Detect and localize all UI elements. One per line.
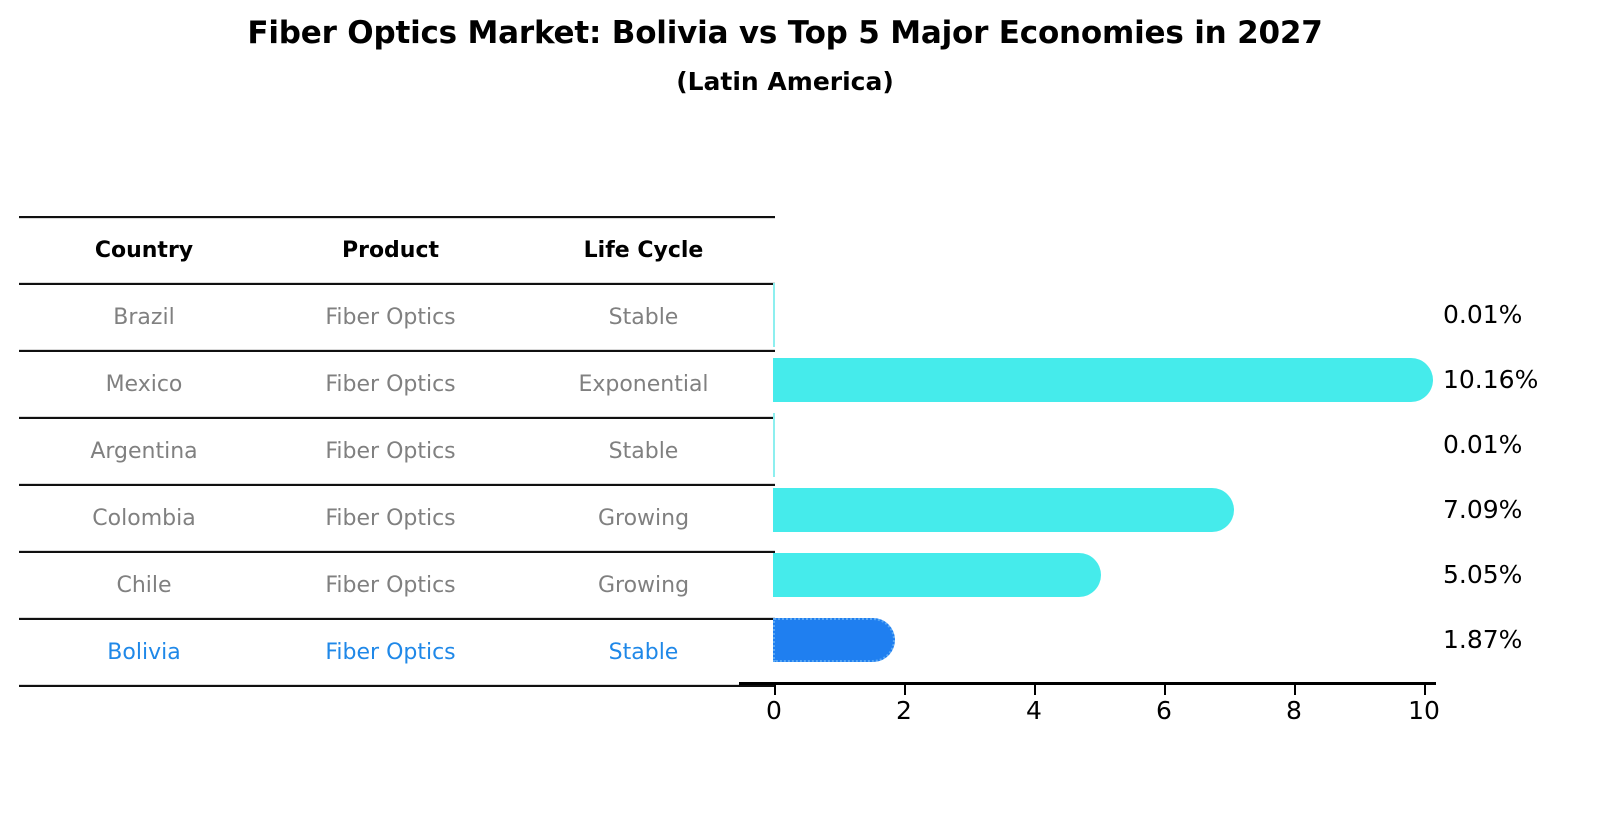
bar-value-label: 7.09% [1443,495,1522,524]
product-cell: Fiber Optics [269,552,512,619]
bar-row: 10.16% [773,347,1433,412]
country-cell: Bolivia [19,619,269,686]
bar[interactable] [773,413,775,477]
bar[interactable] [773,283,775,347]
page-title: Fiber Optics Market: Bolivia vs Top 5 Ma… [0,14,1570,53]
x-axis-tick [1424,685,1426,695]
column-header-product: Product [269,217,512,284]
page-subtitle: (Latin America) [0,67,1570,96]
product-cell: Fiber Optics [269,485,512,552]
life-cycle-cell: Stable [512,418,775,485]
x-axis-tick-label: 2 [896,696,912,725]
product-cell: Fiber Optics [269,284,512,351]
x-axis-tick-label: 10 [1408,696,1440,725]
x-axis-tick-label: 8 [1286,696,1302,725]
data-table-panel: Country Product Life Cycle BrazilFiber O… [19,216,775,687]
bar-value-label: 0.01% [1443,430,1522,459]
country-cell: Colombia [19,485,269,552]
table-row: BrazilFiber OpticsStable [19,284,775,351]
table-row: ChileFiber OpticsGrowing [19,552,775,619]
bar-value-label: 5.05% [1443,560,1522,589]
life-cycle-cell: Growing [512,485,775,552]
bar[interactable] [773,553,1101,597]
bar[interactable] [773,358,1433,402]
bar-highlighted[interactable] [773,618,895,662]
bar-value-label: 1.87% [1443,625,1522,654]
x-axis-tick [1164,685,1166,695]
x-axis-line [739,682,1436,685]
column-header-country: Country [19,217,269,284]
product-cell: Fiber Optics [269,418,512,485]
table-row: ColombiaFiber OpticsGrowing [19,485,775,552]
country-cell: Brazil [19,284,269,351]
x-axis-tick [1034,685,1036,695]
bar-row: 5.05% [773,542,1101,607]
table-row: ArgentinaFiber OpticsStable [19,418,775,485]
product-cell: Fiber Optics [269,351,512,418]
bar-row: 7.09% [773,477,1234,542]
x-axis-tick [904,685,906,695]
title-block: Fiber Optics Market: Bolivia vs Top 5 Ma… [0,14,1570,96]
x-axis-tick-label: 6 [1156,696,1172,725]
column-header-life-cycle: Life Cycle [512,217,775,284]
life-cycle-cell: Stable [512,619,775,686]
life-cycle-cell: Growing [512,552,775,619]
life-cycle-cell: Stable [512,284,775,351]
x-axis-tick-label: 0 [766,696,782,725]
x-axis-tick [1294,685,1296,695]
x-axis-tick-label: 4 [1026,696,1042,725]
product-cell: Fiber Optics [269,619,512,686]
country-cell: Mexico [19,351,269,418]
table-row: MexicoFiber OpticsExponential [19,351,775,418]
country-cell: Chile [19,552,269,619]
bar-value-label: 0.01% [1443,300,1522,329]
table-header-row: Country Product Life Cycle [19,217,775,284]
bar-row: 0.01% [773,412,775,477]
bar-value-label: 10.16% [1443,365,1538,394]
country-cell: Argentina [19,418,269,485]
life-cycle-cell: Exponential [512,351,775,418]
table-row: BoliviaFiber OpticsStable [19,619,775,686]
bar[interactable] [773,488,1234,532]
bar-row: 1.87% [773,607,895,672]
country-data-table: Country Product Life Cycle BrazilFiber O… [19,216,775,687]
bar-row: 0.01% [773,282,775,347]
